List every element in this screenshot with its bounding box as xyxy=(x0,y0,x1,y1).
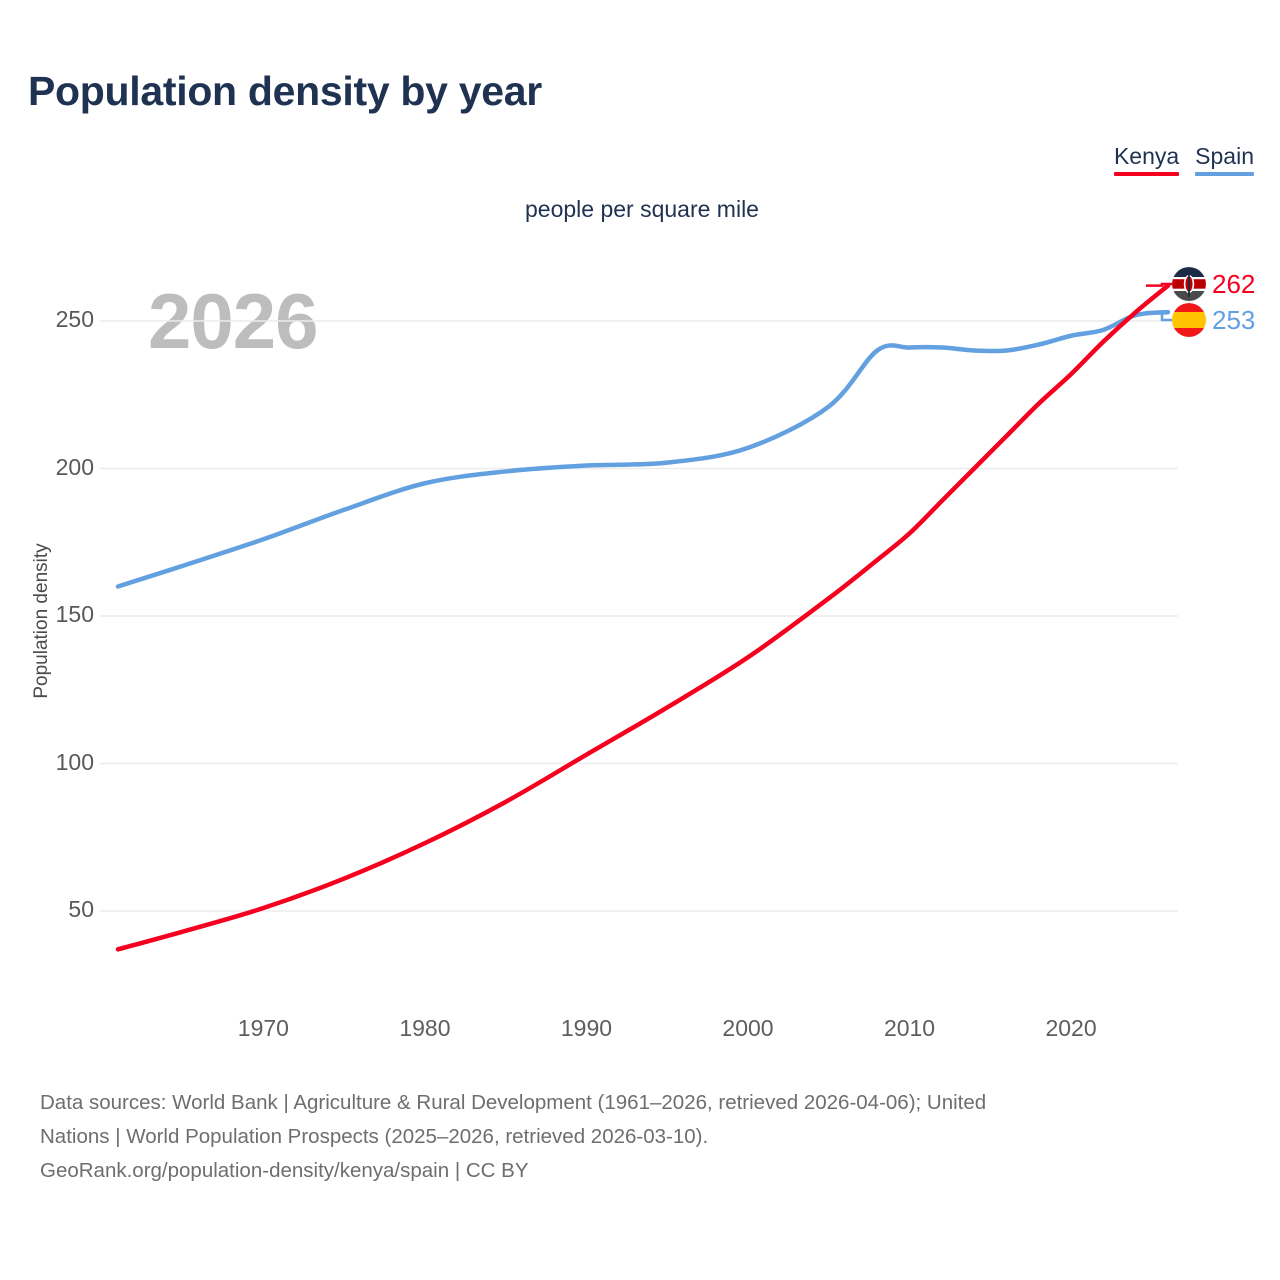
x-tick-label: 2020 xyxy=(1021,1015,1121,1042)
year-watermark: 2026 xyxy=(148,276,318,367)
footer-sources: Data sources: World Bank | Agriculture &… xyxy=(40,1086,1250,1188)
x-tick-label: 2000 xyxy=(698,1015,798,1042)
y-axis-label: Population density xyxy=(31,521,53,721)
x-tick-label: 1970 xyxy=(213,1015,313,1042)
end-value-spain: 253 xyxy=(1212,305,1255,336)
x-tick-label: 2010 xyxy=(860,1015,960,1042)
x-tick-label: 1980 xyxy=(375,1015,475,1042)
leader-line-spain xyxy=(1146,312,1172,320)
chart-page: Population density by year Kenya Spain p… xyxy=(0,0,1280,1280)
legend-item-spain[interactable]: Spain xyxy=(1195,143,1254,176)
footer-line-1: Data sources: World Bank | Agriculture &… xyxy=(40,1086,1250,1120)
end-label-kenya: 262 xyxy=(1172,267,1255,301)
legend-item-kenya[interactable]: Kenya xyxy=(1114,143,1179,176)
end-value-kenya: 262 xyxy=(1212,269,1255,300)
leader-line-kenya xyxy=(1146,284,1172,286)
y-tick-label: 250 xyxy=(24,306,94,333)
y-tick-label: 100 xyxy=(24,749,94,776)
page-title: Population density by year xyxy=(28,68,542,115)
legend-label-kenya: Kenya xyxy=(1114,143,1179,169)
legend-swatch-kenya xyxy=(1114,172,1179,176)
end-label-spain: 253 xyxy=(1172,303,1255,337)
series-line-kenya xyxy=(118,286,1168,950)
gridlines xyxy=(100,321,1178,911)
footer-line-2: Nations | World Population Prospects (20… xyxy=(40,1120,1250,1154)
kenya-flag-icon xyxy=(1172,267,1206,301)
chart-subtitle: people per square mile xyxy=(0,196,1280,223)
legend-label-spain: Spain xyxy=(1195,143,1254,169)
footer-line-3: GeoRank.org/population-density/kenya/spa… xyxy=(40,1154,1250,1188)
legend-swatch-spain xyxy=(1195,172,1254,176)
legend: Kenya Spain xyxy=(1114,143,1254,176)
y-tick-label: 50 xyxy=(24,896,94,923)
x-tick-label: 1990 xyxy=(536,1015,636,1042)
y-tick-label: 200 xyxy=(24,454,94,481)
spain-flag-icon xyxy=(1172,303,1206,337)
